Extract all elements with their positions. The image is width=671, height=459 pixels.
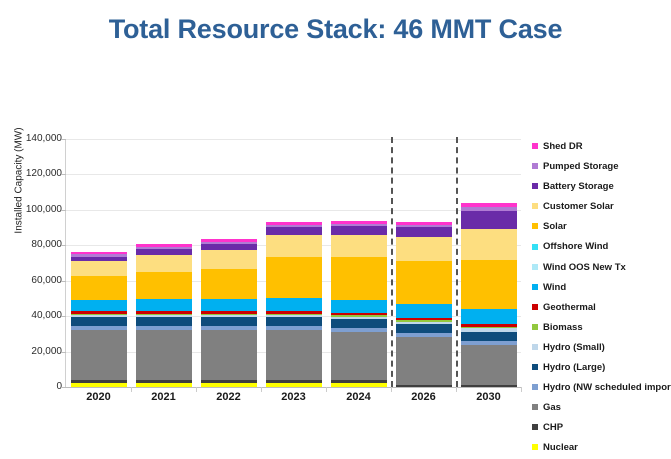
bar-segment-customer-solar[interactable] [266,235,322,256]
legend-item-pumped-storage[interactable]: Pumped Storage [532,157,671,177]
legend-swatch-icon [532,264,538,270]
bar-segment-nuclear[interactable] [136,383,192,387]
legend-swatch-icon [532,384,538,390]
legend-label: Solar [543,217,567,237]
legend-label: Geothermal [543,298,596,318]
scenario-separator-after-2026 [456,137,458,387]
bar-segment-nuclear[interactable] [71,383,127,387]
bar-segment-wind[interactable] [461,309,517,324]
legend-swatch-icon [532,183,538,189]
y-axis-tick-mark [61,281,66,282]
bar-segment-gas[interactable] [201,330,257,380]
legend-label: Customer Solar [543,197,614,217]
legend-swatch-icon [532,163,538,169]
bar-segment-solar[interactable] [71,276,127,300]
chart-root: Total Resource Stack: 46 MMT Case 020,00… [0,0,671,437]
bar-segment-solar[interactable] [266,257,322,299]
bar-segment-nuclear[interactable] [331,383,387,387]
legend-swatch-icon [532,404,538,410]
legend: Shed DRPumped StorageBattery StorageCust… [532,137,671,459]
bar-2020[interactable] [71,252,127,387]
bar-segment-wind[interactable] [136,299,192,311]
y-axis-tick-labels: 020,00040,00060,00080,000100,000120,0001… [0,139,62,387]
bar-segment-wind[interactable] [201,299,257,312]
legend-item-wind-oos-new-tx[interactable]: Wind OOS New Tx [532,258,671,278]
legend-label: Wind OOS New Tx [543,258,626,278]
legend-swatch-icon [532,344,538,350]
bar-segment-hydro-large[interactable] [71,317,127,326]
bar-segment-hydro-large[interactable] [461,332,517,341]
bar-segment-solar[interactable] [396,261,452,304]
bar-2022[interactable] [201,239,257,387]
legend-item-hydro-small[interactable]: Hydro (Small) [532,338,671,358]
bar-segment-hydro-large[interactable] [396,324,452,333]
legend-label: Biomass [543,318,583,338]
bar-segment-gas[interactable] [266,330,322,380]
bar-segment-hydro-large[interactable] [136,317,192,326]
bar-2021[interactable] [136,244,192,387]
legend-swatch-icon [532,424,538,430]
bar-segment-customer-solar[interactable] [71,261,127,276]
gridline [66,174,521,175]
legend-swatch-icon [532,203,538,209]
y-axis-tick-label: 20,000 [4,346,62,357]
legend-label: Offshore Wind [543,237,608,257]
bar-segment-wind[interactable] [331,300,387,313]
bar-segment-wind[interactable] [71,300,127,312]
legend-swatch-icon [532,223,538,229]
legend-label: Hydro (Large) [543,358,605,378]
x-axis-tick-mark [521,387,522,392]
legend-item-nuclear[interactable]: Nuclear [532,438,671,458]
legend-label: Wind [543,278,566,298]
bar-segment-chp[interactable] [396,385,452,387]
legend-item-biomass[interactable]: Biomass [532,318,671,338]
bar-segment-gas[interactable] [396,337,452,385]
x-axis-line [65,387,521,388]
bar-segment-solar[interactable] [136,272,192,299]
bar-segment-hydro-large[interactable] [266,317,322,326]
legend-item-offshore-wind[interactable]: Offshore Wind [532,237,671,257]
legend-item-chp[interactable]: CHP [532,418,671,438]
y-axis-tick-mark [61,387,66,388]
bar-segment-battery-storage[interactable] [331,226,387,235]
legend-label: Shed DR [543,137,583,157]
bar-segment-customer-solar[interactable] [201,250,257,269]
legend-item-hydro-large[interactable]: Hydro (Large) [532,358,671,378]
legend-item-gas[interactable]: Gas [532,398,671,418]
bar-2023[interactable] [266,222,322,387]
bar-2030[interactable] [461,203,517,387]
bar-segment-wind[interactable] [266,298,322,311]
gridline [66,210,521,211]
bar-segment-gas[interactable] [331,332,387,381]
bar-segment-battery-storage[interactable] [396,227,452,237]
bar-segment-chp[interactable] [461,385,517,387]
y-axis-tick-mark [61,316,66,317]
legend-swatch-icon [532,304,538,310]
bar-segment-customer-solar[interactable] [396,237,452,261]
bar-segment-hydro-large[interactable] [331,319,387,328]
bar-segment-wind[interactable] [396,304,452,318]
bar-segment-battery-storage[interactable] [461,211,517,230]
legend-swatch-icon [532,244,538,250]
bar-segment-customer-solar[interactable] [136,255,192,272]
legend-swatch-icon [532,324,538,330]
bar-segment-solar[interactable] [201,269,257,299]
gridline [66,139,521,140]
bar-segment-hydro-large[interactable] [201,317,257,326]
bar-segment-nuclear[interactable] [201,383,257,387]
legend-item-shed-dr[interactable]: Shed DR [532,137,671,157]
bar-segment-customer-solar[interactable] [331,235,387,257]
x-axis-tick-label-2030: 2030 [449,391,529,403]
legend-label: Hydro (Small) [543,338,605,358]
y-axis-title: Installed Capacity (MW) [14,66,25,296]
bar-segment-gas[interactable] [71,330,127,380]
legend-label: Nuclear [543,438,578,458]
y-axis-tick-mark [61,245,66,246]
legend-item-customer-solar[interactable]: Customer Solar [532,197,671,217]
legend-label: Hydro (NW scheduled imports) [543,378,671,398]
legend-swatch-icon [532,284,538,290]
y-axis-tick-label: 0 [4,381,62,392]
bar-segment-nuclear[interactable] [266,383,322,387]
bar-2026[interactable] [396,222,452,387]
legend-label: Pumped Storage [543,157,619,177]
y-axis-tick-label: 40,000 [4,310,62,321]
y-axis-tick-mark [61,352,66,353]
y-axis-tick-mark [61,210,66,211]
y-axis-tick-mark [61,139,66,140]
legend-swatch-icon [532,143,538,149]
scenario-separator-after-2024 [391,137,393,387]
legend-item-hydro-nw-scheduled-imports[interactable]: Hydro (NW scheduled imports) [532,378,671,398]
plot-area: 2020202120222023202420262030 [66,139,521,387]
bar-segment-gas[interactable] [136,330,192,380]
legend-label: Battery Storage [543,177,614,197]
bar-segment-battery-storage[interactable] [266,227,322,235]
legend-item-wind[interactable]: Wind [532,278,671,298]
plot-area-wrapper: 2020202120222023202420262030 [66,139,521,387]
legend-swatch-icon [532,444,538,450]
bar-segment-solar[interactable] [461,260,517,310]
legend-swatch-icon [532,364,538,370]
chart-title: Total Resource Stack: 46 MMT Case [0,14,671,45]
legend-item-solar[interactable]: Solar [532,217,671,237]
legend-label: Gas [543,398,561,418]
y-axis-tick-mark [61,174,66,175]
legend-item-battery-storage[interactable]: Battery Storage [532,177,671,197]
bar-segment-customer-solar[interactable] [461,229,517,259]
y-axis-line [65,139,66,387]
legend-label: CHP [543,418,563,438]
legend-item-geothermal[interactable]: Geothermal [532,298,671,318]
bar-2024[interactable] [331,221,387,387]
bar-segment-gas[interactable] [461,345,517,385]
bar-segment-solar[interactable] [331,257,387,300]
